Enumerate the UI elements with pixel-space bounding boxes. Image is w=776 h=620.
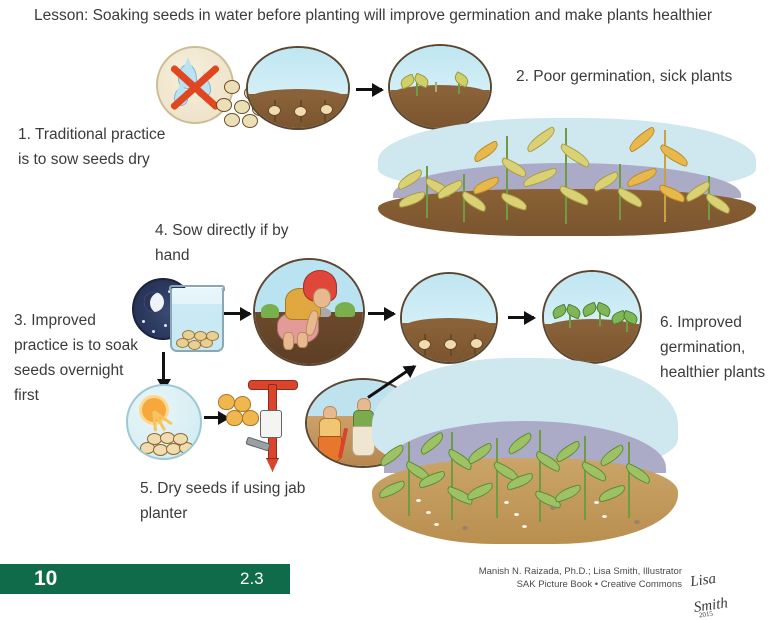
step-label-1: 1. Traditional practice is to sow seeds … bbox=[18, 122, 168, 172]
arrow-right-5 bbox=[368, 312, 394, 315]
credit-line-2: SAK Picture Book • Creative Commons bbox=[479, 579, 682, 592]
arrow-right-2 bbox=[356, 88, 382, 91]
arrow-right-3 bbox=[224, 312, 250, 315]
section-number: 2.3 bbox=[240, 569, 264, 589]
page-title: Lesson: Soaking seeds in water before pl… bbox=[34, 6, 754, 25]
step-label-3: 3. Improved practice is to soak seeds ov… bbox=[14, 308, 144, 408]
arrow-down-1 bbox=[162, 352, 165, 380]
sun-drying-scene bbox=[126, 384, 202, 460]
hand-sowing-illustration bbox=[253, 258, 365, 366]
step-label-2: 2. Poor germination, sick plants bbox=[516, 64, 776, 89]
page-number: 10 bbox=[34, 567, 57, 591]
step-label-5: 5. Dry seeds if using jab planter bbox=[140, 476, 340, 526]
sick-maize-field bbox=[378, 118, 756, 236]
credit-block: Manish N. Raizada, Ph.D.; Lisa Smith, Il… bbox=[479, 566, 682, 591]
arrow-right-6 bbox=[508, 316, 534, 319]
illustrator-signature: Lisa Smith 2015 bbox=[688, 558, 754, 598]
dry-sown-soil-scene bbox=[246, 46, 350, 130]
crescent-moon-icon bbox=[144, 292, 164, 312]
credit-line-1: Manish N. Raizada, Ph.D.; Lisa Smith, Il… bbox=[479, 566, 682, 579]
jab-planter-tool bbox=[246, 376, 298, 470]
good-germination-scene bbox=[542, 270, 642, 364]
soaked-sown-soil-scene bbox=[400, 272, 498, 364]
lesson-page: Lesson: Soaking seeds in water before pl… bbox=[0, 0, 776, 600]
soaking-jar bbox=[170, 288, 224, 352]
healthy-maize-field bbox=[372, 358, 678, 544]
